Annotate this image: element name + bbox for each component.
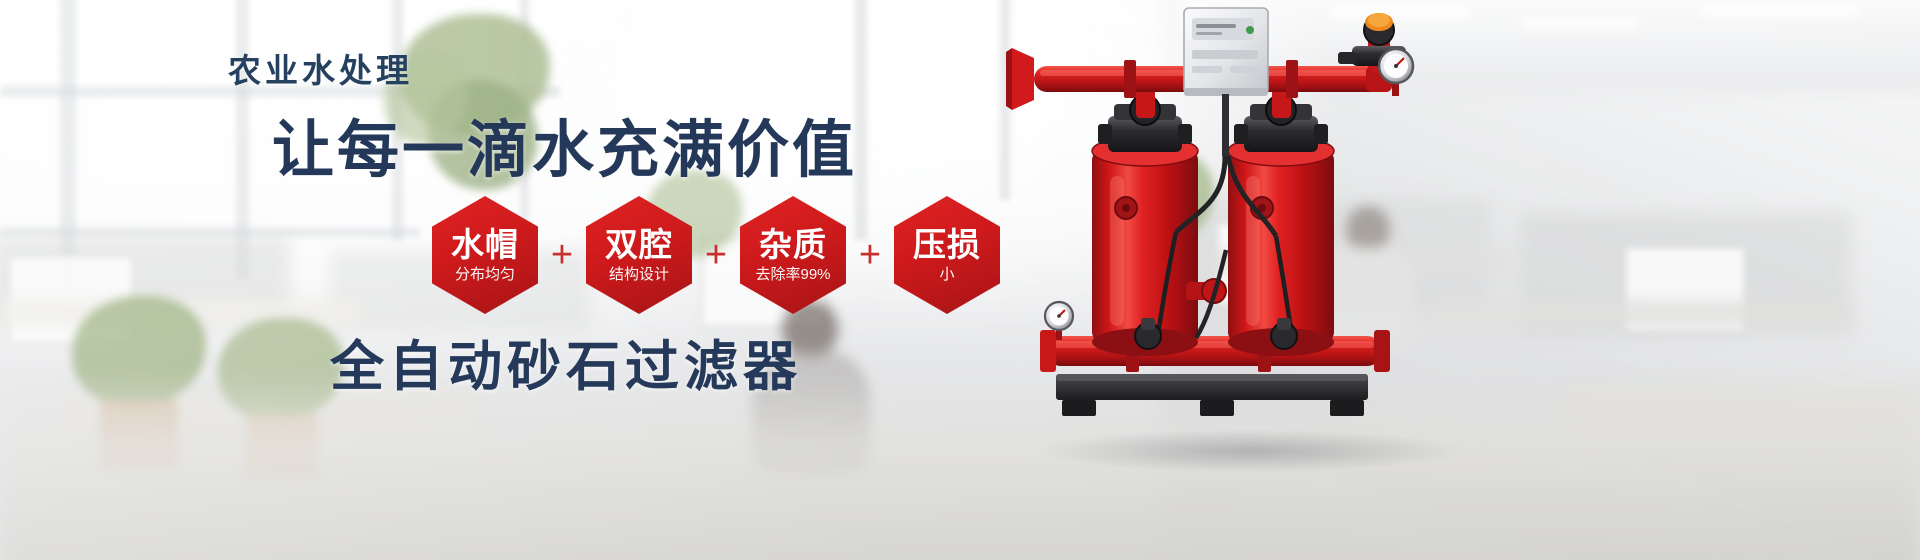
product-headline: 全自动砂石过滤器 xyxy=(330,322,802,401)
badge-title: 杂质 xyxy=(759,228,827,261)
plus-separator-icon: + xyxy=(538,236,586,274)
feature-badge-1[interactable]: 水帽 分布均匀 xyxy=(432,196,538,314)
sand-filter-svg xyxy=(1000,0,1920,560)
badge-subtitle: 分布均匀 xyxy=(455,267,515,282)
eyebrow-text: 农业水处理 xyxy=(228,44,413,92)
promo-banner: 农业水处理 让每一滴水充满价值 水帽 分布均匀 + 双腔 结构设计 + 杂质 去… xyxy=(0,0,1920,560)
badge-subtitle: 去除率99% xyxy=(755,267,830,282)
feature-badge-3[interactable]: 杂质 去除率99% xyxy=(740,196,846,314)
feature-badge-row: 水帽 分布均匀 + 双腔 结构设计 + 杂质 去除率99% + 压损 小 xyxy=(432,196,1000,314)
main-headline: 让每一滴水充满价值 xyxy=(272,99,857,189)
feature-badge-2[interactable]: 双腔 结构设计 xyxy=(586,196,692,314)
base-skid xyxy=(1056,374,1368,416)
badge-title: 双腔 xyxy=(605,228,673,261)
badge-title: 水帽 xyxy=(451,228,519,261)
controller-box xyxy=(1184,8,1268,96)
badge-subtitle: 结构设计 xyxy=(609,267,669,282)
plus-separator-icon: + xyxy=(692,236,740,274)
product-shadow xyxy=(1040,430,1460,472)
banner-copy: 农业水处理 让每一滴水充满价值 水帽 分布均匀 + 双腔 结构设计 + 杂质 去… xyxy=(0,0,1060,560)
lower-manifold-pipe xyxy=(1040,330,1390,372)
badge-title: 压损 xyxy=(913,228,981,261)
badge-subtitle: 小 xyxy=(939,267,954,282)
product-image-sand-filter xyxy=(1000,0,1920,560)
plus-separator-icon: + xyxy=(846,236,894,274)
feature-badge-4[interactable]: 压损 小 xyxy=(894,196,1000,314)
